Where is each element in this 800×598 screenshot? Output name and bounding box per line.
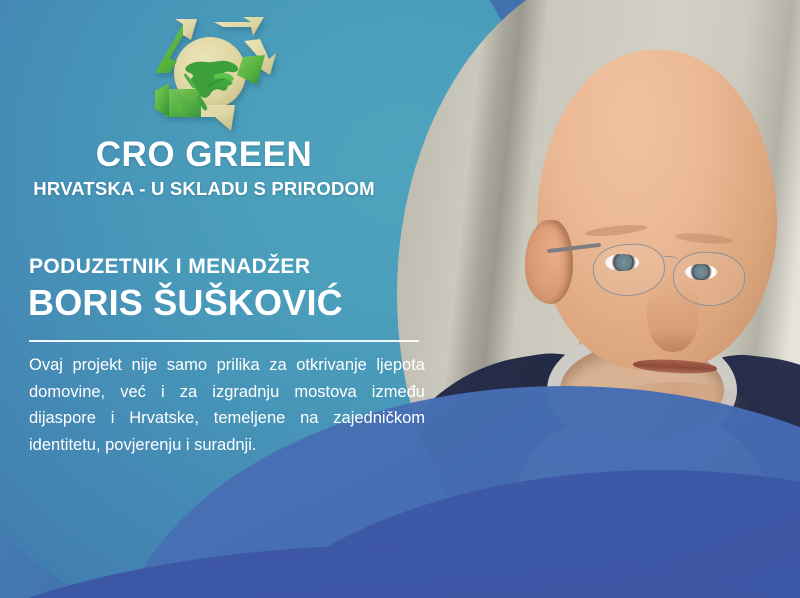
quote-block: Ovaj projekt nije samo prilika za otkriv… bbox=[29, 352, 425, 459]
poster: CRO GREEN HRVATSKA - U SKLADU S PRIRODOM… bbox=[0, 0, 800, 598]
quote-text: Ovaj projekt nije samo prilika za otkriv… bbox=[29, 352, 425, 459]
brand-name: CRO GREEN bbox=[0, 136, 408, 173]
person-name: BORIS ŠUŠKOVIĆ bbox=[28, 282, 343, 324]
ear-icon bbox=[525, 220, 573, 304]
cro-green-logo bbox=[139, 13, 281, 141]
divider bbox=[29, 340, 419, 342]
brand-block: CRO GREEN HRVATSKA - U SKLADU S PRIRODOM bbox=[0, 136, 408, 200]
brand-tagline: HRVATSKA - U SKLADU S PRIRODOM bbox=[0, 178, 408, 200]
person-role: PODUZETNIK I MENADŽER bbox=[29, 255, 310, 279]
nose bbox=[647, 278, 699, 352]
